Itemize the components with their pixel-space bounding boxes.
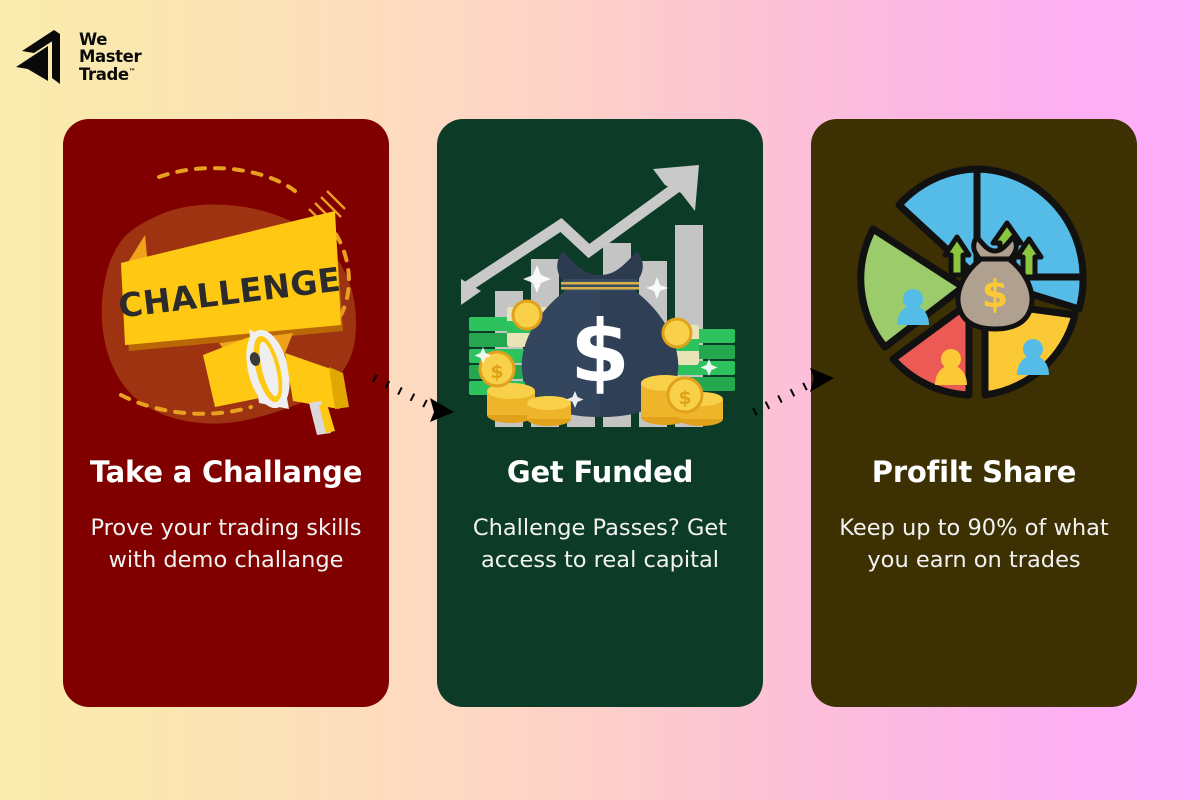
brand-line-3-text: Trade	[79, 65, 129, 84]
card-title: Profilt Share	[872, 457, 1076, 489]
card-profilt-share[interactable]: $ Profilt Share Keep up to 90% of what y…	[811, 119, 1137, 707]
card-title: Get Funded	[507, 457, 693, 489]
funding-illustration: $	[437, 119, 763, 449]
steps-card-row: CHALLENGE Take a Challange Prove your tr…	[0, 119, 1200, 707]
dashed-arc-top	[159, 168, 295, 191]
card-get-funded[interactable]: $	[437, 119, 763, 707]
brand-wordmark: We Master Trade™	[79, 31, 141, 83]
card-description: Prove your trading skills with demo chal…	[87, 513, 365, 577]
brand-line-3: Trade™	[79, 66, 141, 83]
card-title: Take a Challange	[90, 457, 362, 489]
challenge-illustration: CHALLENGE	[63, 119, 389, 449]
profit-share-illustration: $	[811, 119, 1137, 449]
brand-line-1: We	[79, 31, 141, 48]
trademark-symbol: ™	[129, 67, 136, 75]
money-bag-currency: $	[570, 302, 630, 402]
card-description: Keep up to 90% of what you earn on trade…	[835, 513, 1113, 577]
brand-logo[interactable]: We Master Trade™	[14, 26, 141, 88]
money-bag-currency: $	[982, 272, 1008, 316]
brand-line-2: Master	[79, 48, 141, 65]
card-description: Challenge Passes? Get access to real cap…	[461, 513, 739, 577]
svg-text:$: $	[490, 361, 503, 383]
svg-text:$: $	[678, 387, 691, 409]
card-take-a-challange[interactable]: CHALLENGE Take a Challange Prove your tr…	[63, 119, 389, 707]
double-chevron-arrow-icon	[14, 26, 68, 88]
